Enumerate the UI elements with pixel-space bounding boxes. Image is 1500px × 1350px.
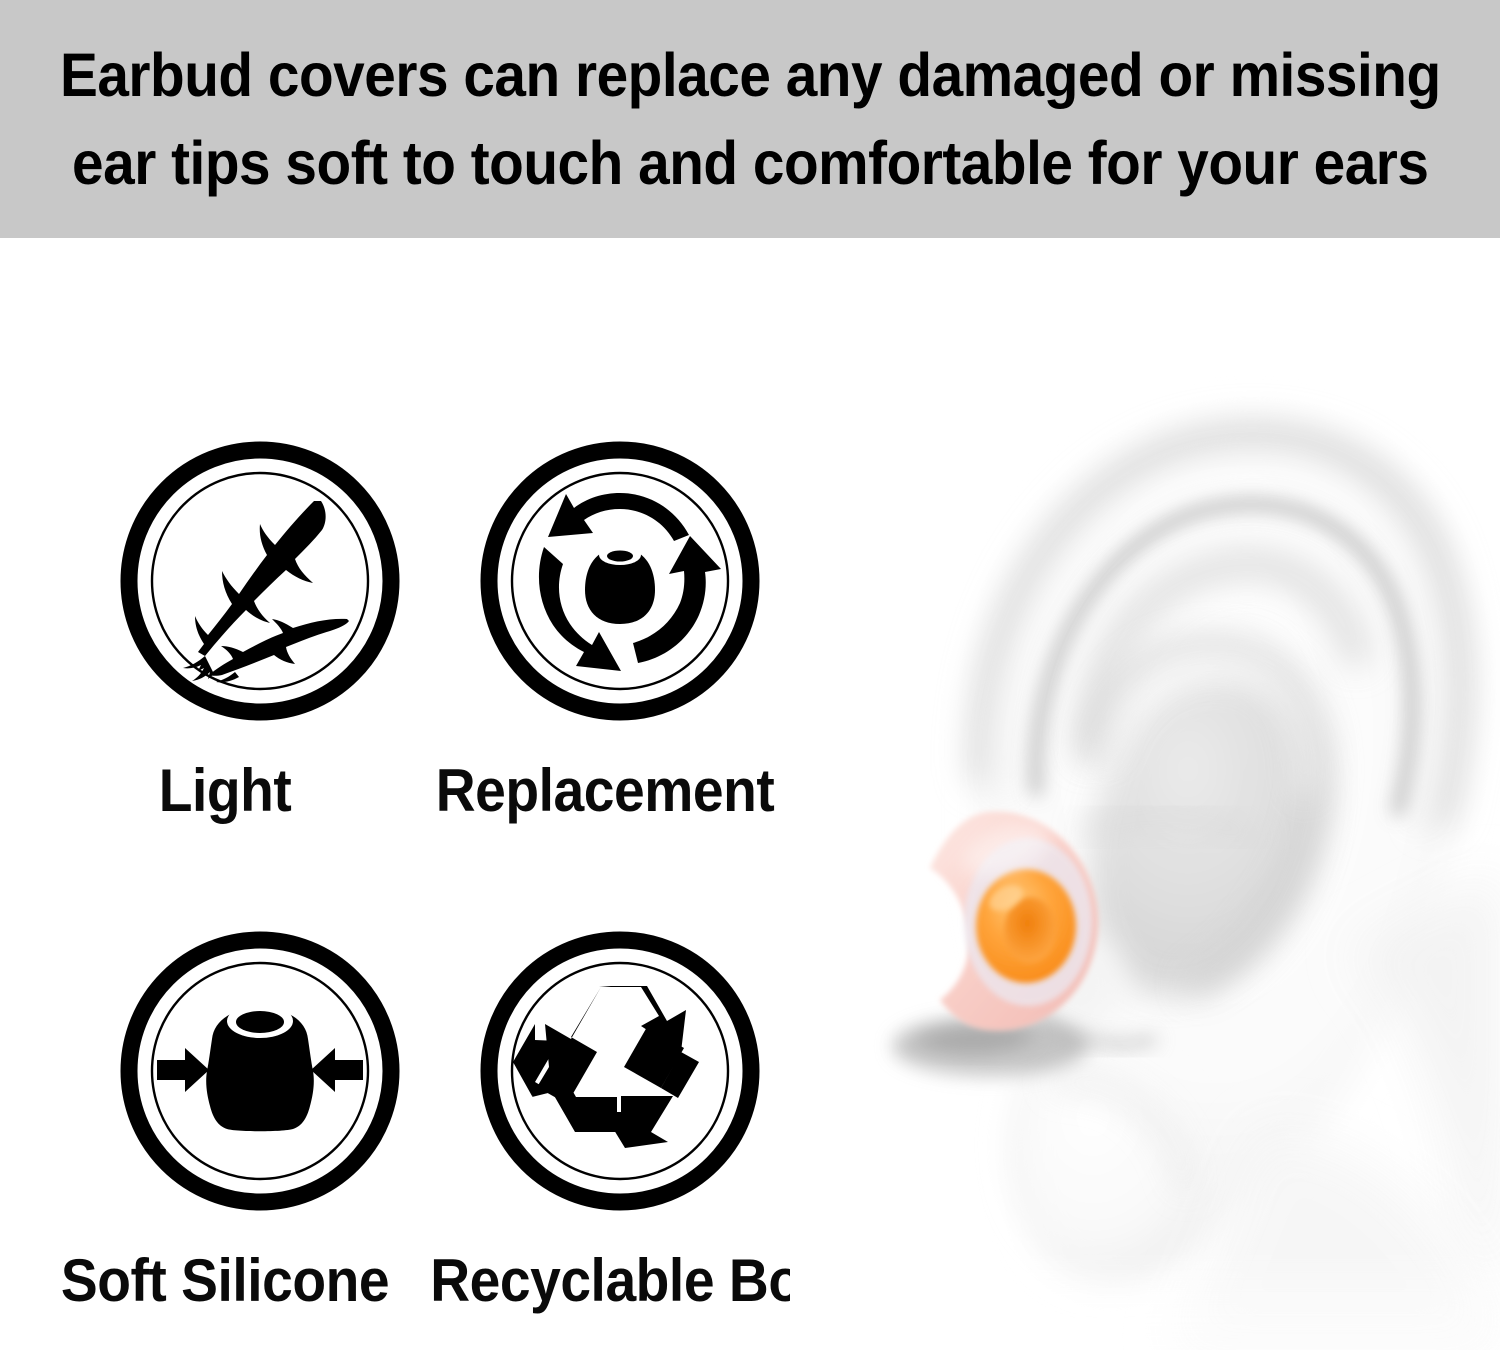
feature-replacement: Replacement bbox=[415, 436, 795, 936]
feature-label-recyclable-box: Recyclable Box bbox=[430, 1248, 780, 1314]
feature-soft-silicone: Soft Silicone bbox=[35, 926, 415, 1350]
feather-icon bbox=[115, 436, 405, 726]
recycle-icon bbox=[475, 926, 765, 1216]
ear-product-photo bbox=[790, 250, 1500, 1350]
feature-light: Light bbox=[35, 436, 415, 936]
header-banner: Earbud covers can replace any damaged or… bbox=[0, 0, 1500, 238]
feature-label-light: Light bbox=[50, 758, 400, 824]
headline-line-1: Earbud covers can replace any damaged or… bbox=[60, 31, 1441, 119]
feature-label-soft-silicone: Soft Silicone bbox=[50, 1248, 400, 1314]
feature-icon-grid: Light bbox=[0, 238, 830, 1350]
product-infographic: Earbud covers can replace any damaged or… bbox=[0, 0, 1500, 1350]
feature-label-replacement: Replacement bbox=[430, 758, 780, 824]
replacement-cycle-icon bbox=[475, 436, 765, 726]
feature-recyclable-box: Recyclable Box bbox=[415, 926, 795, 1350]
headline-line-2: ear tips soft to touch and comfortable f… bbox=[72, 119, 1428, 207]
compressible-eartip-icon bbox=[115, 926, 405, 1216]
